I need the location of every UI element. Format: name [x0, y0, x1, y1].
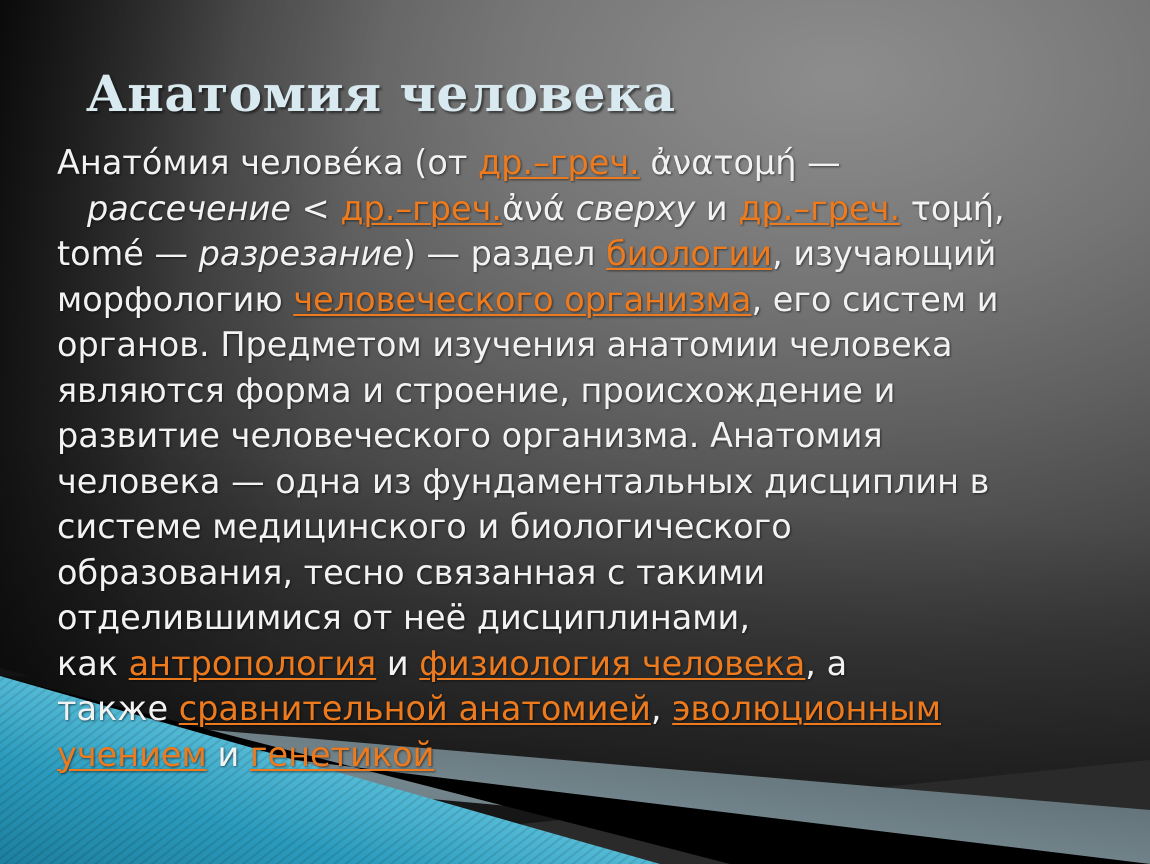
- body-line: рассечение < др.–греч.ἀνά сверху и др.–г…: [57, 186, 1077, 232]
- body-text-run: отделившимися от неё дисциплинами,: [57, 598, 750, 637]
- body-text-run: ) — раздел: [403, 234, 606, 273]
- body-text-run: системе медицинского и биологического: [57, 507, 792, 546]
- body-link[interactable]: генетикой: [250, 735, 435, 774]
- body-link[interactable]: др.–греч.: [738, 189, 900, 228]
- body-line: как антропология и физиология человека, …: [57, 641, 1077, 687]
- body-emphasis: сверху: [576, 189, 696, 228]
- body-link[interactable]: сравнительной анатомией: [179, 689, 651, 728]
- body-line: морфологию человеческого организма, его …: [57, 277, 1077, 323]
- body-text-run: , а: [805, 644, 847, 683]
- body-text-run: как: [57, 644, 129, 683]
- body-text-run: ,: [651, 689, 672, 728]
- body-line: учением и генетикой: [57, 732, 1077, 778]
- body-link[interactable]: физиология человека: [419, 644, 805, 683]
- body-link[interactable]: учением: [57, 735, 207, 774]
- body-text-run: , его систем и: [751, 280, 998, 319]
- body-line: органов. Предметом изучения анатомии чел…: [57, 322, 1077, 368]
- slide-title: Анатомия человека: [86, 68, 675, 121]
- body-line: также сравнительной анатомией, эволюцион…: [57, 686, 1077, 732]
- body-text-run: образования, тесно связанная с такими: [57, 553, 765, 592]
- body-text-run: ἀνατομή —: [640, 143, 841, 182]
- body-text-run: и: [695, 189, 738, 228]
- body-line: tomé — разрезание) — раздел биологии, из…: [57, 231, 1077, 277]
- body-line: являются форма и строение, происхождение…: [57, 368, 1077, 414]
- body-link[interactable]: др.–греч.: [478, 143, 640, 182]
- body-text-run: являются форма и строение, происхождение…: [57, 371, 895, 410]
- body-text-run: человека — одна из фундаментальных дисци…: [57, 462, 989, 501]
- body-link[interactable]: эволюционным: [672, 689, 941, 728]
- body-link[interactable]: биологии: [606, 234, 772, 273]
- body-text-run: <: [291, 189, 340, 228]
- body-text-run: и: [376, 644, 419, 683]
- body-line: человека — одна из фундаментальных дисци…: [57, 459, 1077, 505]
- body-link[interactable]: человеческого организма: [293, 280, 751, 319]
- slide-canvas: Анатомия человека Анато́мия челове́ка (о…: [0, 0, 1150, 864]
- body-text-run: развитие человеческого организма. Анатом…: [57, 416, 883, 455]
- body-text-run: ἀνά: [502, 189, 576, 228]
- body-line: образования, тесно связанная с такими: [57, 550, 1077, 596]
- body-line: Анато́мия челове́ка (от др.–греч. ἀνατομ…: [57, 140, 1077, 186]
- body-text-run: морфологию: [57, 280, 293, 319]
- body-text-run: органов. Предметом изучения анатомии чел…: [57, 325, 953, 364]
- body-line: отделившимися от неё дисциплинами,: [57, 595, 1077, 641]
- body-text-run: τομή,: [900, 189, 1005, 228]
- body-emphasis: разрезание: [199, 234, 403, 273]
- body-text-run: также: [57, 689, 179, 728]
- body-link[interactable]: антропология: [129, 644, 377, 683]
- body-text-run: tomé —: [57, 234, 199, 273]
- body-text-run: Анато́мия челове́ка (от: [57, 143, 478, 182]
- body-line: развитие человеческого организма. Анатом…: [57, 413, 1077, 459]
- body-link[interactable]: др.–греч.: [340, 189, 502, 228]
- body-text-run: , изучающий: [772, 234, 996, 273]
- slide-body-text: Анато́мия челове́ка (от др.–греч. ἀνατομ…: [57, 140, 1077, 777]
- body-text-run: и: [207, 735, 250, 774]
- body-line: системе медицинского и биологического: [57, 504, 1077, 550]
- body-emphasis: рассечение: [87, 189, 291, 228]
